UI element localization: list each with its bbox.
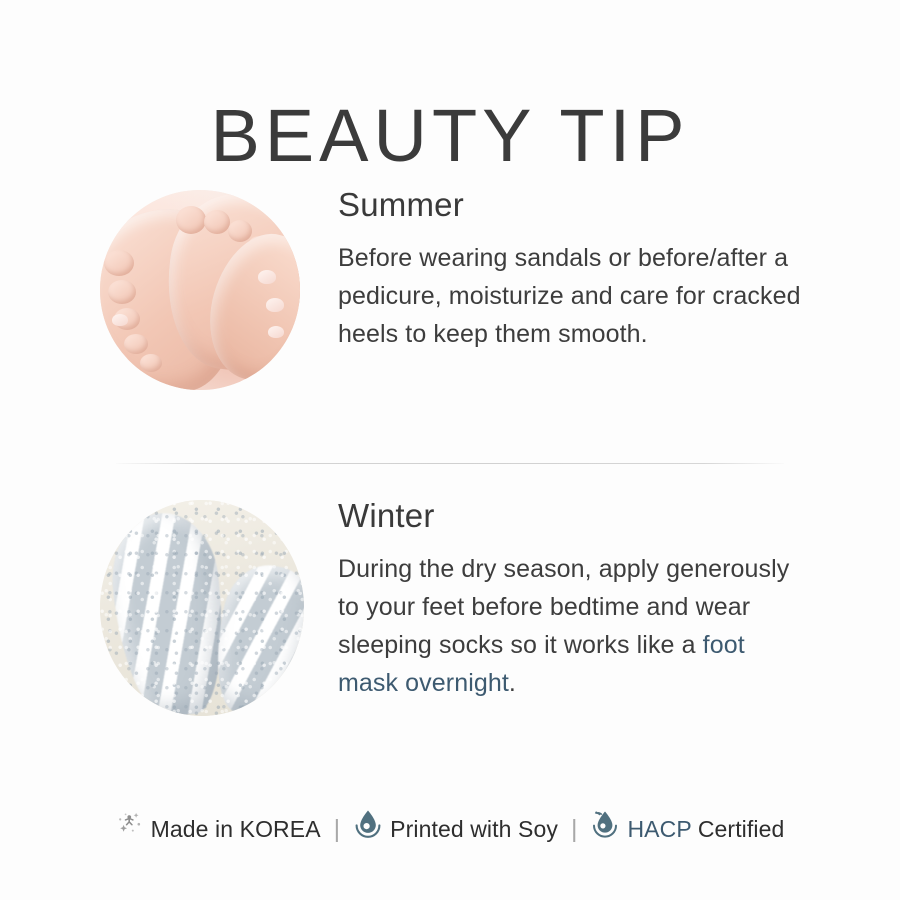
korea-sparkle-icon	[116, 810, 144, 847]
winter-heading: Winter	[338, 496, 808, 536]
page-title: BEAUTY TIP	[0, 94, 900, 178]
tip-section-winter: Winter During the dry season, apply gene…	[0, 496, 900, 726]
footer-badges: Made in KOREA | Printed with Soy |	[0, 808, 900, 849]
sock-shape	[106, 508, 233, 716]
hacp-certified-label: HACP Certified	[627, 812, 784, 846]
badge-separator: |	[321, 812, 354, 846]
hacp-acronym: HACP	[627, 816, 691, 842]
toe-shape	[204, 210, 230, 234]
badge-hacp-certified: HACP Certified	[590, 808, 784, 849]
tip-section-summer: Summer Before wearing sandals or before/…	[0, 185, 900, 415]
toe-shape	[176, 206, 206, 234]
nail-shape	[258, 270, 276, 284]
nail-shape	[268, 326, 284, 338]
summer-body: Before wearing sandals or before/after a…	[338, 239, 808, 353]
toe-shape	[104, 250, 134, 276]
summer-photo	[100, 190, 300, 390]
toe-shape	[108, 280, 136, 304]
badge-printed-with-soy: Printed with Soy	[353, 808, 558, 849]
printed-with-soy-label: Printed with Soy	[390, 812, 558, 846]
winter-text-block: Winter During the dry season, apply gene…	[338, 496, 808, 702]
winter-body: During the dry season, apply generously …	[338, 550, 808, 702]
feet-photo	[100, 190, 300, 390]
badge-made-in-korea: Made in KOREA	[116, 810, 321, 847]
summer-body-text: Before wearing sandals or before/after a…	[338, 244, 801, 348]
badge-separator: |	[558, 812, 591, 846]
toe-shape	[140, 354, 162, 372]
winter-body-text-suffix: .	[509, 669, 516, 697]
beauty-tip-page: BEAUTY TIP S	[0, 0, 900, 900]
summer-text-block: Summer Before wearing sandals or before/…	[338, 185, 808, 353]
hacp-droplet-icon	[590, 808, 620, 849]
section-divider	[116, 463, 784, 464]
nail-shape	[266, 298, 284, 312]
nail-shape	[112, 314, 128, 326]
toe-shape	[228, 220, 252, 242]
summer-heading: Summer	[338, 185, 808, 225]
made-in-korea-label: Made in KOREA	[151, 812, 321, 846]
socks-photo	[100, 500, 304, 716]
toe-shape	[124, 334, 148, 354]
soy-droplet-icon	[353, 808, 383, 849]
winter-photo	[100, 500, 304, 716]
certified-word: Certified	[691, 816, 784, 842]
